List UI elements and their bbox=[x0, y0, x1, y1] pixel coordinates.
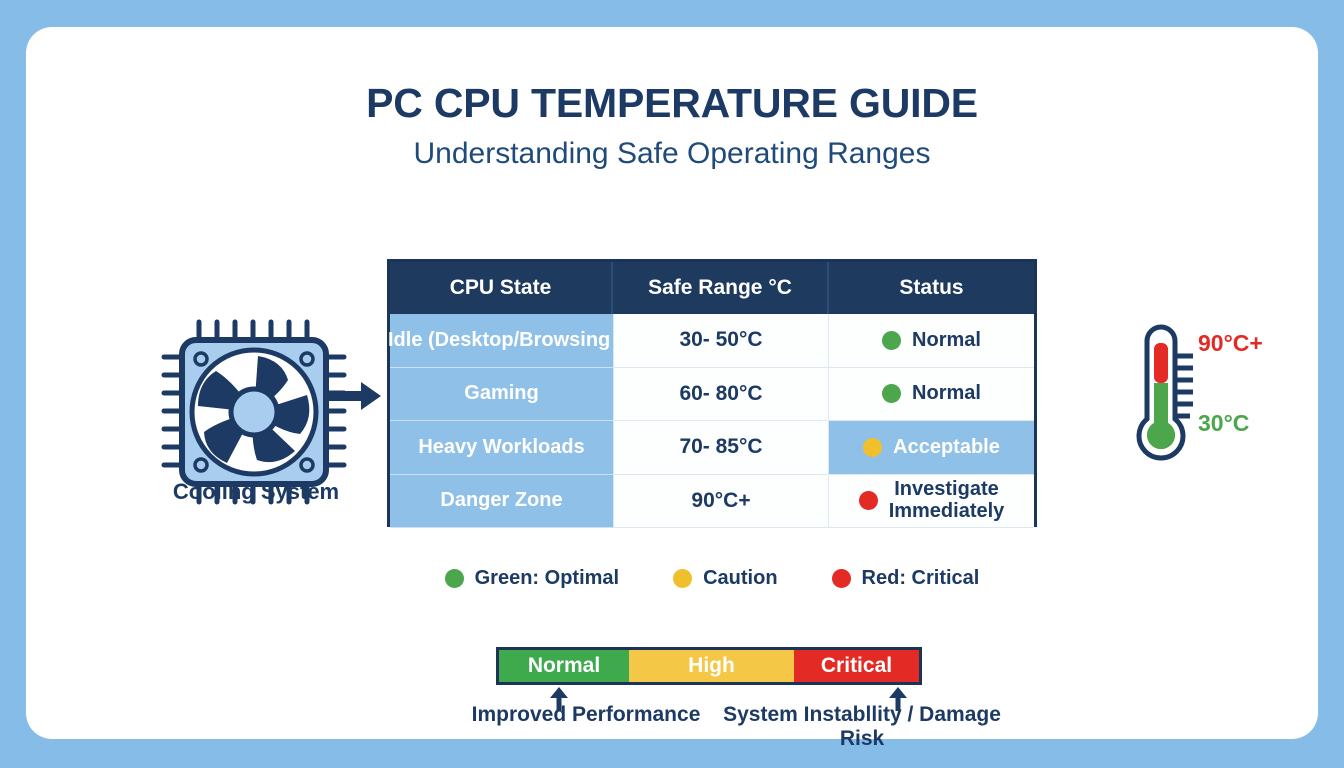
status-label: Normal bbox=[912, 329, 981, 352]
temperature-scale-bar: Normal High Critical bbox=[496, 647, 922, 685]
table-row[interactable]: Heavy Workloads 70- 85°C Acceptable bbox=[390, 421, 1034, 475]
cell-status: Acceptable bbox=[829, 421, 1034, 475]
thermometer-high-label: 90°C+ bbox=[1198, 330, 1263, 356]
legend-dot-green bbox=[445, 569, 464, 588]
infographic-card: PC CPU TEMPERATURE GUIDE Understanding S… bbox=[26, 27, 1318, 739]
cell-cpu-state: Heavy Workloads bbox=[390, 421, 613, 475]
scale-caption-right: System Instabllity / Damage Risk bbox=[716, 703, 1008, 751]
column-header-status: Status bbox=[829, 262, 1034, 314]
scale-segment-critical: Critical bbox=[794, 650, 919, 682]
legend-dot-red bbox=[832, 569, 851, 588]
cell-safe-range: 60- 80°C bbox=[613, 368, 829, 422]
scale-caption-left: Improved Performance bbox=[458, 703, 714, 727]
cell-cpu-state: Danger Zone bbox=[390, 475, 613, 529]
cell-status: Normal bbox=[829, 368, 1034, 422]
legend-item-caution: Caution bbox=[673, 567, 777, 590]
page-title: PC CPU TEMPERATURE GUIDE bbox=[26, 80, 1318, 127]
cell-status: Normal bbox=[829, 314, 1034, 368]
status-dot-green bbox=[882, 331, 901, 350]
cell-safe-range: 30- 50°C bbox=[613, 314, 829, 368]
status-label: Normal bbox=[912, 382, 981, 405]
thermometer-icon: 90°C+ 30°C bbox=[1124, 323, 1284, 473]
temperature-table: CPU State Safe Range °C Status Idle (Des… bbox=[387, 259, 1037, 527]
status-label: Investigate Immediately bbox=[889, 479, 1005, 522]
column-header-cpu-state: CPU State bbox=[390, 262, 613, 314]
legend-label: Red: Critical bbox=[862, 567, 980, 590]
legend-item-critical: Red: Critical bbox=[832, 567, 980, 590]
arrow-right-icon bbox=[329, 379, 381, 413]
cell-cpu-state: Gaming bbox=[390, 368, 613, 422]
cell-safe-range: 70- 85°C bbox=[613, 421, 829, 475]
status-label-line1: Investigate bbox=[894, 478, 998, 500]
legend: Green: Optimal Caution Red: Critical bbox=[387, 567, 1037, 590]
cell-status: Investigate Immediately bbox=[829, 475, 1034, 529]
table-row[interactable]: Danger Zone 90°C+ Investigate Immediatel… bbox=[390, 475, 1034, 529]
table-row[interactable]: Idle (Desktop/Browsing 30- 50°C Normal bbox=[390, 314, 1034, 368]
page-subtitle: Understanding Safe Operating Ranges bbox=[26, 137, 1318, 171]
thermometer-low-label: 30°C bbox=[1198, 410, 1249, 436]
status-label: Acceptable bbox=[893, 436, 1000, 459]
table-row[interactable]: Gaming 60- 80°C Normal bbox=[390, 368, 1034, 422]
cell-safe-range: 90°C+ bbox=[613, 475, 829, 529]
cpu-state-label: Idle (Desktop/Browsing bbox=[388, 329, 610, 352]
legend-label: Green: Optimal bbox=[475, 567, 619, 590]
cell-cpu-state: Idle (Desktop/Browsing bbox=[390, 314, 613, 368]
scale-segment-high: High bbox=[629, 650, 794, 682]
status-dot-yellow bbox=[863, 438, 882, 457]
status-dot-green bbox=[882, 384, 901, 403]
scale-segment-normal: Normal bbox=[499, 650, 629, 682]
column-header-safe-range: Safe Range °C bbox=[613, 262, 829, 314]
status-label-line2: Immediately bbox=[889, 500, 1005, 522]
legend-label: Caution bbox=[703, 567, 777, 590]
cooling-system-label: Cooling System bbox=[136, 479, 376, 505]
legend-dot-yellow bbox=[673, 569, 692, 588]
status-dot-red bbox=[859, 491, 878, 510]
table-header-row: CPU State Safe Range °C Status bbox=[390, 262, 1034, 314]
legend-item-optimal: Green: Optimal bbox=[445, 567, 619, 590]
